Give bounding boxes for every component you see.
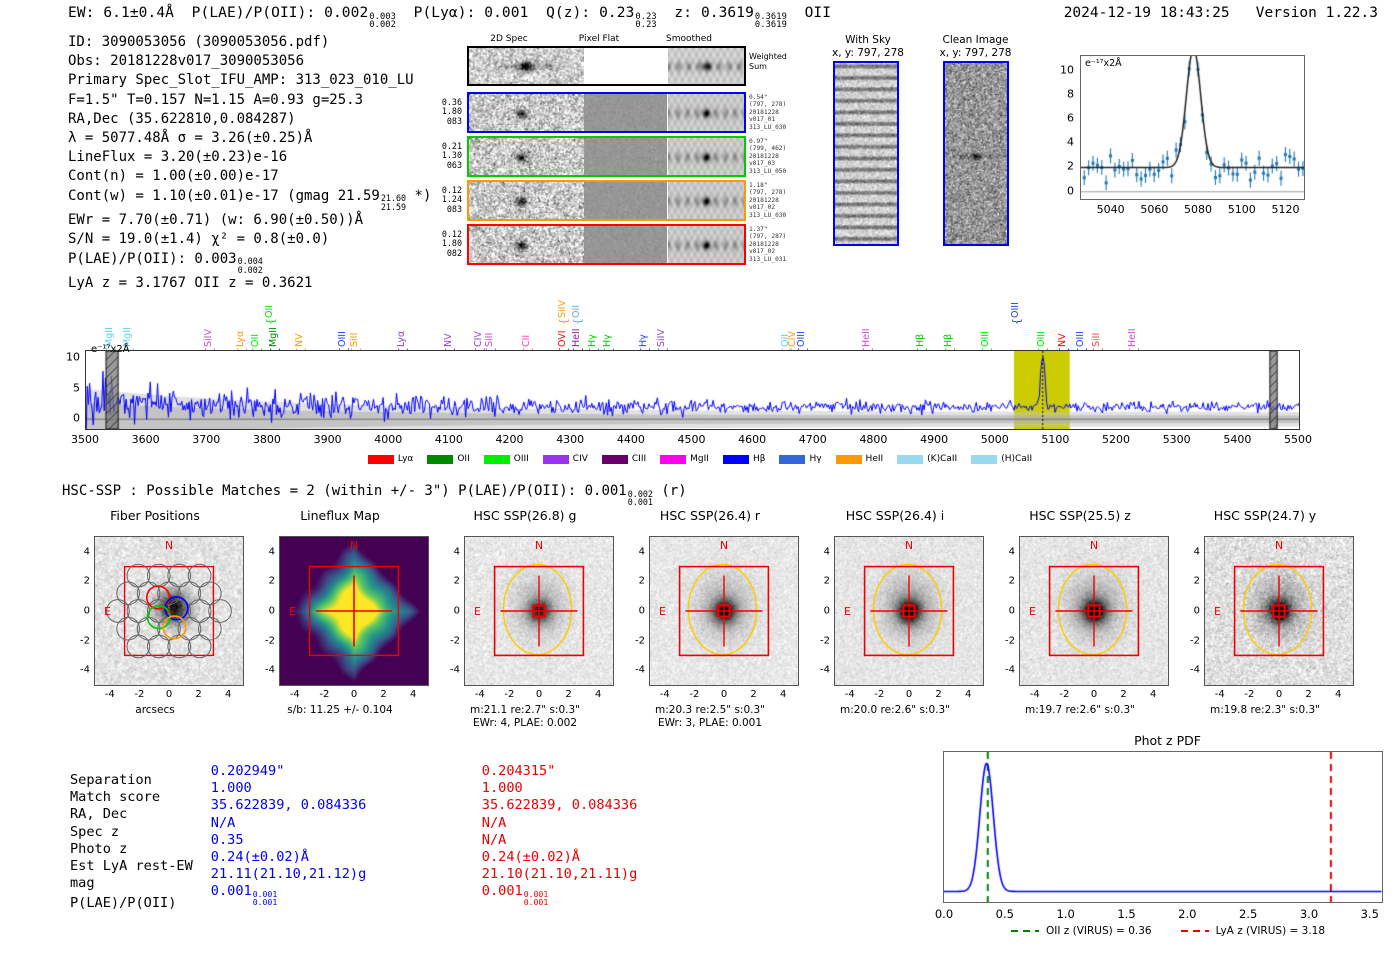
emission-line-label: NV (443, 309, 454, 347)
cutout-y-tick: -4 (625, 665, 645, 676)
cutout-x-tick: 0 (536, 689, 542, 700)
zoom-x-tick: 5060 (1140, 203, 1168, 216)
timestamp-version: 2024-12-19 18:43:25 Version 1.22.3 (1064, 5, 1378, 21)
emission-line-label: CII (521, 309, 532, 347)
exposure-right-labels: 0.97"(799, 462)20181228v017_03313_LU_050 (749, 138, 811, 175)
phot-z-x-tick: 1.0 (1057, 907, 1075, 921)
legend-item: (H)CaII (971, 454, 1032, 464)
info-plae-pre: P(LAE)/P(OII): 0.003 (68, 251, 237, 267)
spectrum-x-tick: 4000 (374, 433, 402, 446)
exposure-panel-row (467, 92, 746, 133)
with-sky-title: With Sky x, y: 797, 278 (823, 34, 913, 59)
spectrum-x-tick: 5100 (1041, 433, 1069, 446)
cutout-x-tick: 2 (935, 689, 941, 700)
cutout-y-tick: 4 (440, 546, 460, 557)
phot-z-x-tick: 1.5 (1117, 907, 1135, 921)
cutout-caption-primary: m:21.1 re:2.7" s:0.3" (430, 704, 620, 717)
cutout-x-tick: -4 (1215, 689, 1225, 700)
cutout-x-tick: 0 (1276, 689, 1282, 700)
info-lambda-sigma: λ = 5077.48Å σ = 3.26(±0.25)Å (68, 129, 431, 148)
match-row-label: RA, Dec (70, 806, 211, 823)
exposure-right-value: v017_03 (749, 160, 811, 167)
cutout-caption-secondary: EWr: 3, PLAE: 0.001 (615, 717, 805, 730)
cutout-y-tick: -2 (440, 635, 460, 646)
cutout-panel: HSC SSP(26.8) gNE-4-4-2-2002244m:21.1 re… (430, 508, 620, 733)
weighted-sum-row (467, 46, 746, 86)
emission-line-label: CIV (473, 309, 484, 347)
cutout-y-tick: 2 (995, 576, 1015, 587)
east-marker: E (1214, 605, 1221, 618)
zoom-y-tick: 6 (1046, 112, 1074, 125)
legend-swatch (836, 455, 862, 464)
spectrum-x-tick: 4900 (920, 433, 948, 446)
legend-label: MgII (690, 454, 709, 464)
cutout-x-tick: -2 (874, 689, 884, 700)
emission-line-label: OII (571, 280, 582, 318)
cutout-image: NE (1019, 536, 1169, 686)
clean-image-subtitle: x, y: 797, 278 (928, 47, 1023, 60)
emission-line-label: Lyα (235, 309, 246, 347)
emission-line-label: SiII (349, 309, 360, 347)
emission-line-label: OIII (1036, 309, 1047, 347)
legend-label: OIII (514, 454, 529, 464)
emission-line-label: Hγ (638, 309, 649, 347)
exposure-right-value: 20181228 (749, 109, 811, 116)
legend-swatch (602, 455, 628, 464)
east-marker: E (104, 605, 111, 618)
cutout-y-tick: 0 (625, 606, 645, 617)
cutout-y-tick: 4 (995, 546, 1015, 557)
match-table-grid: Separation0.202949"0.204315"Match score1… (70, 772, 753, 916)
plae-label: P(LAE)/P(OII): (192, 5, 316, 21)
east-marker: E (844, 605, 851, 618)
spectrum-x-tick: 5000 (981, 433, 1009, 446)
info-cont-w-pre: Cont(w) = 1.10(±0.01)e-17 (gmag 21.59 (68, 188, 380, 204)
cutout-title: Lineflux Map (245, 508, 435, 523)
match-row-label: mag (70, 875, 211, 892)
legend-item: (K)CaII (897, 454, 957, 464)
info-sn-chi2: S/N = 19.0(±1.4) χ² = 0.8(±0.0) (68, 230, 431, 249)
z-lo: 0.3619 (755, 21, 787, 30)
emission-line-label: MgII (104, 309, 115, 347)
legend-item: HeII (836, 454, 884, 464)
zoom-y-tick: 2 (1046, 160, 1074, 173)
cutout-title: HSC SSP(26.8) g (430, 508, 620, 523)
col-title-smoothed: Smoothed (646, 34, 732, 44)
cutout-image: NE (649, 536, 799, 686)
cutout-y-tick: -4 (70, 665, 90, 676)
emission-line-label: SiIV (656, 309, 667, 347)
z-label: z: (674, 5, 692, 21)
cutout-x-tick: 0 (1091, 689, 1097, 700)
cutout-panel: HSC SSP(25.5) zNE-4-4-2-2002244m:19.7 re… (985, 508, 1175, 733)
match-row-value-col2: 0.0010.0010.001 (482, 883, 753, 906)
spectrum-x-tick: 4700 (799, 433, 827, 446)
legend-label: HeII (866, 454, 884, 464)
cutout-x-tick: 2 (1305, 689, 1311, 700)
cutout-x-tick: 4 (410, 689, 416, 700)
cutout-image: NE (834, 536, 984, 686)
north-marker: N (350, 539, 358, 552)
north-marker: N (720, 539, 728, 552)
legend-swatch (897, 455, 923, 464)
match-row-value-col1: 0.0010.0010.001 (211, 883, 482, 906)
cutout-overlay: NE (1020, 537, 1168, 685)
cutout-x-tick: 2 (1120, 689, 1126, 700)
line-zoom-plot: e⁻¹⁷x2Å 0246810 50405060508051005120 (1038, 50, 1310, 250)
exposure-right-value: (797, 287) (749, 233, 811, 240)
exposure-left-labels: 0.211.30063 (432, 142, 462, 170)
col-title-2dspec: 2D Spec (466, 34, 552, 44)
cutout-x-tick: 4 (595, 689, 601, 700)
legend-item: CIV (543, 454, 588, 464)
zoom-x-tick: 5120 (1272, 203, 1300, 216)
info-lineflux: LineFlux = 3.20(±0.23)e-16 (68, 148, 431, 167)
phot-z-x-tick: 0.0 (935, 907, 953, 921)
emission-line-label: OIII (337, 309, 348, 347)
cutout-y-tick: 0 (70, 606, 90, 617)
emission-line-label: SiII (484, 309, 495, 347)
exposure-right-value: 313_LU_030 (749, 124, 811, 131)
cutout-y-tick: 4 (810, 546, 830, 557)
cutout-x-tick: 0 (351, 689, 357, 700)
exposure-right-value: 313_LU_031 (749, 256, 811, 263)
spectrum-x-tick: 3900 (314, 433, 342, 446)
legend-item: Lyα (368, 454, 413, 464)
timestamp: 2024-12-19 18:43:25 (1064, 5, 1230, 21)
phot-z-x-tick: 3.5 (1361, 907, 1379, 921)
hsc-header-lo: 0.001 (628, 498, 653, 507)
cutout-x-tick: -4 (475, 689, 485, 700)
legend-label: (H)CaII (1001, 454, 1032, 464)
spectrum-y-tick: 10 (52, 351, 80, 364)
legend-label: Lyα (398, 454, 413, 464)
cutout-y-tick: -4 (810, 665, 830, 676)
sky-image-panels: With Sky x, y: 797, 278 Clean Image x, y… (823, 34, 1023, 274)
spectrum-x-tick: 4400 (617, 433, 645, 446)
spectrum-x-tick: 5200 (1102, 433, 1130, 446)
exposure-right-labels: 1.37"(797, 287)20181228v017_02313_LU_031 (749, 226, 811, 263)
cutout-y-tick: -4 (255, 665, 275, 676)
qz-lo: 0.23 (635, 21, 656, 30)
exposure-right-labels: 0.54"(797, 278)20181228v017_01313_LU_030 (749, 94, 811, 131)
col-title-pixelflat: Pixel Flat (556, 34, 642, 44)
match-row-value-col1: 0.35 (211, 832, 482, 849)
cutout-image: NE (1204, 536, 1354, 686)
info-plae-lo: 0.002 (238, 266, 263, 275)
spec2d-panel-group: 2D Spec Pixel Flat Smoothed Weighted Sum… (432, 34, 812, 274)
match-row-label: P(LAE)/P(OII) (70, 892, 211, 915)
cutout-image: NE (464, 536, 614, 686)
cutout-panel: Lineflux MapNE-4-4-2-2002244s/b: 11.25 +… (245, 508, 435, 733)
legend-item: OII (427, 454, 469, 464)
zoom-x-tick: 5040 (1097, 203, 1125, 216)
exposure-right-value: 20181228 (749, 241, 811, 248)
cutout-caption-primary: m:19.7 re:2.6" s:0.3" (985, 704, 1175, 717)
plae-value: 0.002 (324, 5, 368, 21)
weighted-sum-flat (584, 48, 667, 84)
cutout-y-tick: 2 (1180, 576, 1200, 587)
cutout-x-tick: 0 (166, 689, 172, 700)
cutout-title: HSC SSP(25.5) z (985, 508, 1175, 523)
weighted-sum-label-l2: Sum (749, 62, 787, 72)
header-summary-line: EW: 6.1±0.4Å P(LAE)/P(OII): 0.0020.0030.… (68, 5, 831, 30)
with-sky-title-text: With Sky (823, 34, 913, 47)
exposure-right-value: 0.54" (749, 94, 811, 101)
phot-z-title: Phot z PDF (935, 733, 1400, 748)
cutout-panel: Fiber Positions+NE-4-4-2-2002244arcsecs (60, 508, 250, 733)
cutout-y-tick: 4 (70, 546, 90, 557)
zoom-flux-unit-label: e⁻¹⁷x2Å (1085, 58, 1122, 69)
cutout-panel-row: Fiber Positions+NE-4-4-2-2002244arcsecsL… (0, 508, 1400, 733)
cutout-y-tick: 4 (1180, 546, 1200, 557)
cutout-title: HSC SSP(24.7) y (1170, 508, 1360, 523)
match-row-value-col1: 21.11(21.10,21.12)g (211, 866, 482, 883)
match-row-value-col1: 35.622839, 0.084336 (211, 797, 482, 814)
emission-line-label: Hβ (943, 309, 954, 347)
exposure-left-labels: 0.121.80082 (432, 230, 462, 258)
legend-item: CIII (602, 454, 646, 464)
cutout-y-tick: -4 (440, 665, 460, 676)
cutout-x-tick: -4 (290, 689, 300, 700)
phot-z-legend-label: OII z (VIRUS) = 0.36 (1046, 925, 1152, 937)
cutout-overlay: NE (465, 537, 613, 685)
match-row-value-col1: 1.000 (211, 780, 482, 797)
match-row-value-col2: 1.000 (482, 780, 753, 797)
cutout-y-tick: 2 (810, 576, 830, 587)
match-plae-value: 0.001 (211, 883, 252, 899)
cutout-caption-primary: s/b: 11.25 +/- 0.104 (245, 704, 435, 717)
emission-line-label: MgII (268, 309, 279, 347)
north-marker: N (165, 539, 173, 552)
emission-line-label: OIII (980, 309, 991, 347)
info-primary-spec: Primary Spec_Slot_IFU_AMP: 313_023_010_L… (68, 71, 431, 90)
svg-text:+: + (167, 607, 173, 618)
spectrum-x-tick: 5300 (1163, 433, 1191, 446)
emission-line-label: NV (294, 309, 305, 347)
full-spectrum-plot: MgII{MgII{SiIV{Lyα{OII{OII{MgII{NV{OIII{… (0, 278, 1400, 453)
cutout-panel: HSC SSP(26.4) rNE-4-4-2-2002244m:20.3 re… (615, 508, 805, 733)
info-params: F=1.5" T=0.157 N=1.15 A=0.93 g=25.3 (68, 91, 431, 110)
cutout-y-tick: 0 (1180, 606, 1200, 617)
match-row-value-col2: 35.622839, 0.084336 (482, 797, 753, 814)
cutout-x-tick: -2 (689, 689, 699, 700)
spectrum-x-tick: 4800 (859, 433, 887, 446)
cutout-y-tick: -2 (625, 635, 645, 646)
spectrum-x-tick: 5400 (1223, 433, 1251, 446)
exposure-panel-row (467, 180, 746, 221)
info-id: ID: 3090053056 (3090053056.pdf) (68, 33, 431, 52)
spectrum-x-tick: 4100 (435, 433, 463, 446)
emission-line-label: Lyα (396, 309, 407, 347)
phot-z-legend: OII z (VIRUS) = 0.36LyA z (VIRUS) = 3.18 (935, 925, 1400, 937)
legend-swatch (368, 455, 394, 464)
cutout-x-tick: -2 (1244, 689, 1254, 700)
legend-label: CIV (573, 454, 588, 464)
weighted-sum-label-l1: Weighted (749, 52, 787, 62)
exposure-right-value: 313_LU_030 (749, 212, 811, 219)
legend-label: CIII (632, 454, 646, 464)
phot-z-x-tick: 3.0 (1300, 907, 1318, 921)
emission-line-label: Hγ (587, 309, 598, 347)
info-ewr: EWr = 7.70(±0.71) (w: 6.90(±0.50))Å (68, 211, 431, 230)
plya-value: 0.001 (484, 5, 528, 21)
north-marker: N (1275, 539, 1283, 552)
exposure-right-value: 313_LU_050 (749, 168, 811, 175)
exposure-rows: 0.361.800830.54"(797, 278)20181228v017_0… (432, 92, 812, 274)
zoom-y-tick: 10 (1046, 63, 1074, 76)
with-sky-subtitle: x, y: 797, 278 (823, 47, 913, 60)
cutout-x-tick: 4 (780, 689, 786, 700)
exposure-left-value: 063 (432, 161, 462, 170)
info-cont-n: Cont(n) = 1.00(±0.00)e-17 (68, 167, 431, 186)
cutout-y-tick: 4 (255, 546, 275, 557)
cutout-x-tick: 4 (225, 689, 231, 700)
north-marker: N (535, 539, 543, 552)
emission-line-bracket: { (571, 318, 584, 325)
hsc-ssp-header: HSC-SSP : Possible Matches = 2 (within +… (62, 483, 687, 507)
match-row-value-col1: 0.24(±0.02)Å (211, 849, 482, 866)
cutout-image: +NE (94, 536, 244, 686)
north-marker: N (905, 539, 913, 552)
info-plae: P(LAE)/P(OII): 0.0030.0040.002 (68, 250, 431, 275)
cutout-x-tick: -4 (845, 689, 855, 700)
cutout-title: HSC SSP(26.4) r (615, 508, 805, 523)
cutout-overlay: NE (280, 537, 428, 685)
legend-swatch (660, 455, 686, 464)
emission-line-bracket: { (1010, 318, 1023, 325)
emission-line-legend: LyαOIIOIIICIVCIIIMgIIHβHγHeII(K)CaII(H)C… (0, 454, 1400, 464)
cutout-caption-primary: m:19.8 re:2.3" s:0.3" (1170, 704, 1360, 717)
qz-label: Q(z): (546, 5, 590, 21)
hsc-header-text: HSC-SSP : Possible Matches = 2 (within +… (62, 483, 627, 499)
cutout-y-tick: 4 (625, 546, 645, 557)
clean-image (943, 61, 1009, 246)
legend-swatch (779, 455, 805, 464)
phot-z-x-tick: 2.5 (1239, 907, 1257, 921)
z-type: OII (805, 5, 832, 21)
spectrum-y-tick: 5 (52, 381, 80, 394)
cutout-x-tick: 0 (906, 689, 912, 700)
cutout-caption-primary: arcsecs (60, 704, 250, 717)
phot-z-legend-dash-icon (1180, 926, 1210, 936)
north-marker: N (1090, 539, 1098, 552)
cutout-caption-primary: m:20.0 re:2.6" s:0.3" (800, 704, 990, 717)
cutout-x-tick: -2 (504, 689, 514, 700)
exposure-left-labels: 0.361.80083 (432, 98, 462, 126)
spectrum-x-tick: 3700 (192, 433, 220, 446)
qz-value: 0.23 (599, 5, 634, 21)
spectrum-x-tick: 3600 (132, 433, 160, 446)
cutout-x-tick: 4 (965, 689, 971, 700)
exposure-left-labels: 0.121.24083 (432, 186, 462, 214)
zoom-y-tick: 0 (1046, 184, 1074, 197)
east-marker: E (474, 605, 481, 618)
emission-line-label: SiIV (557, 280, 568, 318)
emission-line-label: OIII (1010, 280, 1021, 318)
cutout-y-tick: -2 (995, 635, 1015, 646)
cutout-y-tick: 0 (995, 606, 1015, 617)
cutout-panel: HSC SSP(26.4) iNE-4-4-2-2002244m:20.0 re… (800, 508, 990, 733)
exposure-right-labels: 1.18"(797, 278)20181228v017_02313_LU_030 (749, 182, 811, 219)
match-row-label: Est LyA rest-EW (70, 858, 211, 875)
legend-label: Hγ (809, 454, 821, 464)
spectrum-y-tick: 0 (52, 412, 80, 425)
cutout-caption-secondary: EWr: 4, PLAE: 0.002 (430, 717, 620, 730)
cutout-x-tick: -4 (105, 689, 115, 700)
cutout-y-tick: -2 (1180, 635, 1200, 646)
zoom-y-tick: 8 (1046, 87, 1074, 100)
match-row-value-col2: N/A (482, 832, 753, 849)
plae-lo: 0.002 (369, 21, 396, 30)
match-row-value-col2: 21.10(21.10,21.11)g (482, 866, 753, 883)
emission-line-label: MgII (122, 309, 133, 347)
cutout-x-tick: -4 (660, 689, 670, 700)
exposure-right-value: (797, 278) (749, 189, 811, 196)
source-info-block: ID: 3090053056 (3090053056.pdf) Obs: 201… (68, 33, 431, 293)
table-row: P(LAE)/P(OII)0.0010.0010.0010.0010.0010.… (70, 892, 753, 915)
match-row-value-col1: 0.202949" (211, 763, 482, 780)
phot-z-legend-item: LyA z (VIRUS) = 3.18 (1180, 925, 1325, 937)
phot-z-x-tick: 2.0 (1178, 907, 1196, 921)
exposure-right-value: v017_02 (749, 248, 811, 255)
version-label: Version 1.22.3 (1256, 5, 1378, 21)
legend-label: OII (457, 454, 469, 464)
cutout-overlay: NE (835, 537, 983, 685)
zoom-x-tick: 5080 (1184, 203, 1212, 216)
legend-label: Hβ (753, 454, 766, 464)
legend-item: MgII (660, 454, 709, 464)
emission-line-label: HeII (861, 309, 872, 347)
exposure-right-value: (797, 278) (749, 101, 811, 108)
z-value: 0.3619 (701, 5, 754, 21)
cutout-y-tick: -2 (255, 635, 275, 646)
cutout-x-tick: -4 (1030, 689, 1040, 700)
cutout-x-tick: -2 (1059, 689, 1069, 700)
east-marker: E (289, 605, 296, 618)
emission-line-label: SiIV (203, 309, 214, 347)
cutout-x-tick: 2 (380, 689, 386, 700)
ew-value: 6.1±0.4Å (103, 5, 174, 21)
cutout-overlay: NE (650, 537, 798, 685)
hsc-header-suffix: (r) (661, 483, 686, 499)
legend-swatch (543, 455, 569, 464)
exposure-right-value: (799, 462) (749, 145, 811, 152)
exposure-right-value: 20181228 (749, 153, 811, 160)
cutout-y-tick: 0 (810, 606, 830, 617)
info-cont-w-post: *) (415, 188, 432, 204)
info-cont-w: Cont(w) = 1.10(±0.01)e-17 (gmag 21.5921.… (68, 187, 431, 212)
cutout-y-tick: 2 (70, 576, 90, 587)
match-row-value-col2: 0.204315" (482, 763, 753, 780)
cutout-y-tick: 2 (440, 576, 460, 587)
spectrum-x-tick: 4300 (556, 433, 584, 446)
legend-swatch (723, 455, 749, 464)
exposure-left-value: 082 (432, 249, 462, 258)
legend-swatch (971, 455, 997, 464)
cutout-x-tick: 2 (195, 689, 201, 700)
cutout-overlay: NE (1205, 537, 1353, 685)
match-row-label: Spec z (70, 824, 211, 841)
match-plae-lo: 0.001 (253, 898, 278, 906)
spectrum-x-tick: 5500 (1284, 433, 1312, 446)
spectrum-x-tick: 3500 (71, 433, 99, 446)
ew-label: EW: (68, 5, 95, 21)
phot-z-x-tick: 0.5 (996, 907, 1014, 921)
spectrum-x-tick: 4200 (496, 433, 524, 446)
match-row-label: Match score (70, 789, 211, 806)
emission-line-label: Hβ (915, 309, 926, 347)
